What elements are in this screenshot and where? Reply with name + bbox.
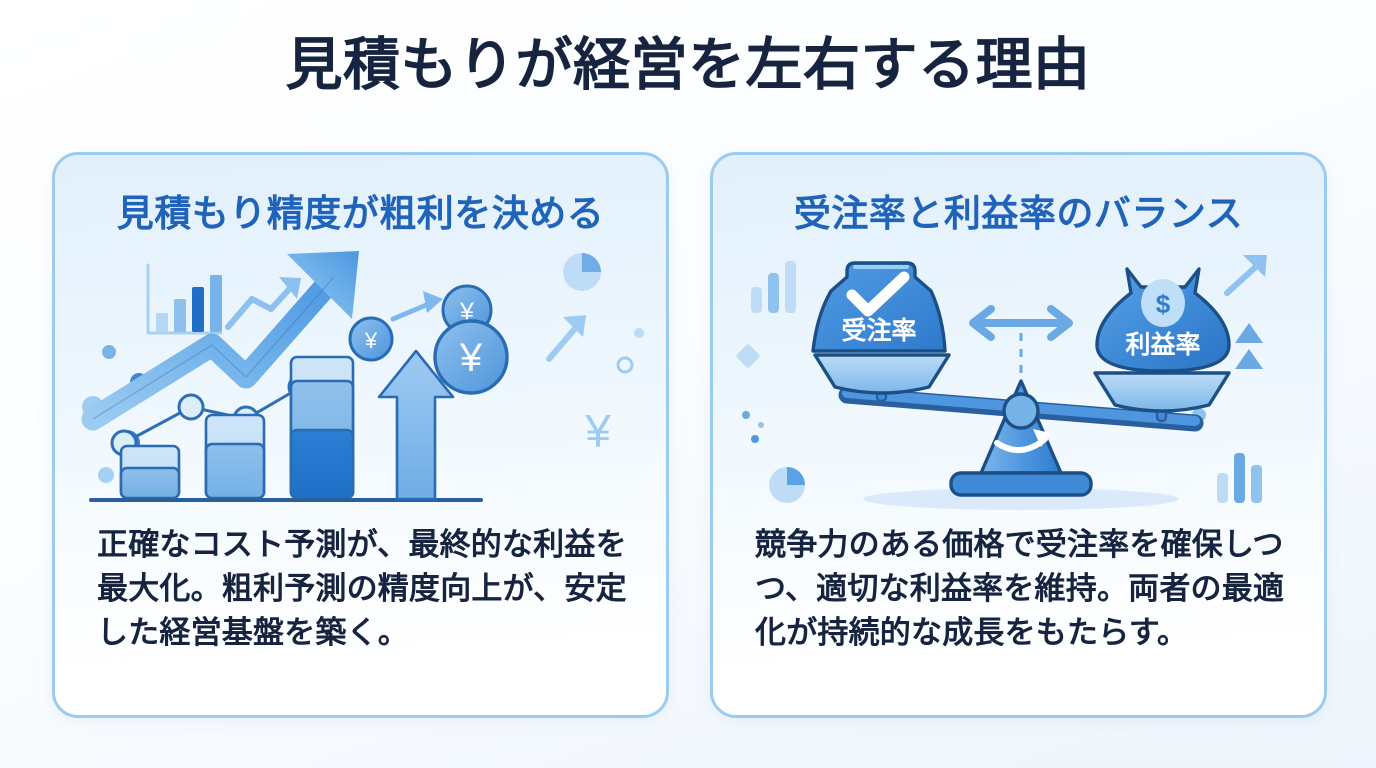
trend-arrow-icon	[1227, 255, 1267, 293]
svg-text:¥: ¥	[459, 336, 483, 380]
table-row	[291, 357, 353, 498]
card-body-right: 競争力のある価格で受注率を確保しつつ、適切な利益率を維持。両者の最適化が持続的な…	[755, 523, 1288, 655]
pie-chart-icon	[563, 253, 601, 291]
bar-chart-icon	[751, 261, 796, 313]
card-heading-right: 受注率と利益率のバランス	[713, 183, 1324, 237]
growth-chart-illustration: ¥ ¥ ¥	[71, 247, 656, 515]
yen-symbol: ¥	[584, 405, 611, 457]
diamond-icon	[735, 343, 760, 368]
yen-coin-small: ¥	[350, 318, 392, 360]
table-row	[121, 446, 179, 498]
slide-root: 見積もりが経営を左右する理由 見積もり精度が粗利を決める	[0, 0, 1376, 768]
right-bag-label: 利益率	[1125, 330, 1200, 359]
svg-text:¥: ¥	[364, 328, 378, 353]
coin-arrow-icon	[393, 291, 443, 319]
money-bag: $ 利益率	[1097, 269, 1229, 371]
pie-chart-icon	[769, 467, 805, 503]
card-order-profit-balance[interactable]: 受注率と利益率のバランス	[710, 152, 1327, 718]
double-arrow-icon	[973, 309, 1069, 337]
card-heading-left: 見積もり精度が粗利を決める	[55, 183, 666, 237]
bar-chart-icon	[148, 265, 222, 333]
bar-chart-icon	[1217, 453, 1262, 503]
balance-scale-illustration: 受注率 $ 利益率	[729, 247, 1314, 515]
triangle-icons	[1235, 323, 1263, 369]
money-symbol: $	[1156, 289, 1171, 319]
trend-arrow-icon	[549, 315, 586, 359]
weight-block: 受注率	[813, 263, 945, 351]
card-estimate-accuracy[interactable]: 見積もり精度が粗利を決める	[52, 152, 669, 718]
yen-coin-large: ¥	[435, 321, 507, 393]
page-title: 見積もりが経営を左右する理由	[0, 34, 1376, 98]
left-weight-label: 受注率	[841, 316, 916, 345]
pivot-circle	[1004, 394, 1038, 428]
card-body-left: 正確なコスト予測が、最終的な利益を最大化。粗利予測の精度向上が、安定した経営基盤…	[97, 523, 630, 655]
table-row	[206, 415, 264, 498]
